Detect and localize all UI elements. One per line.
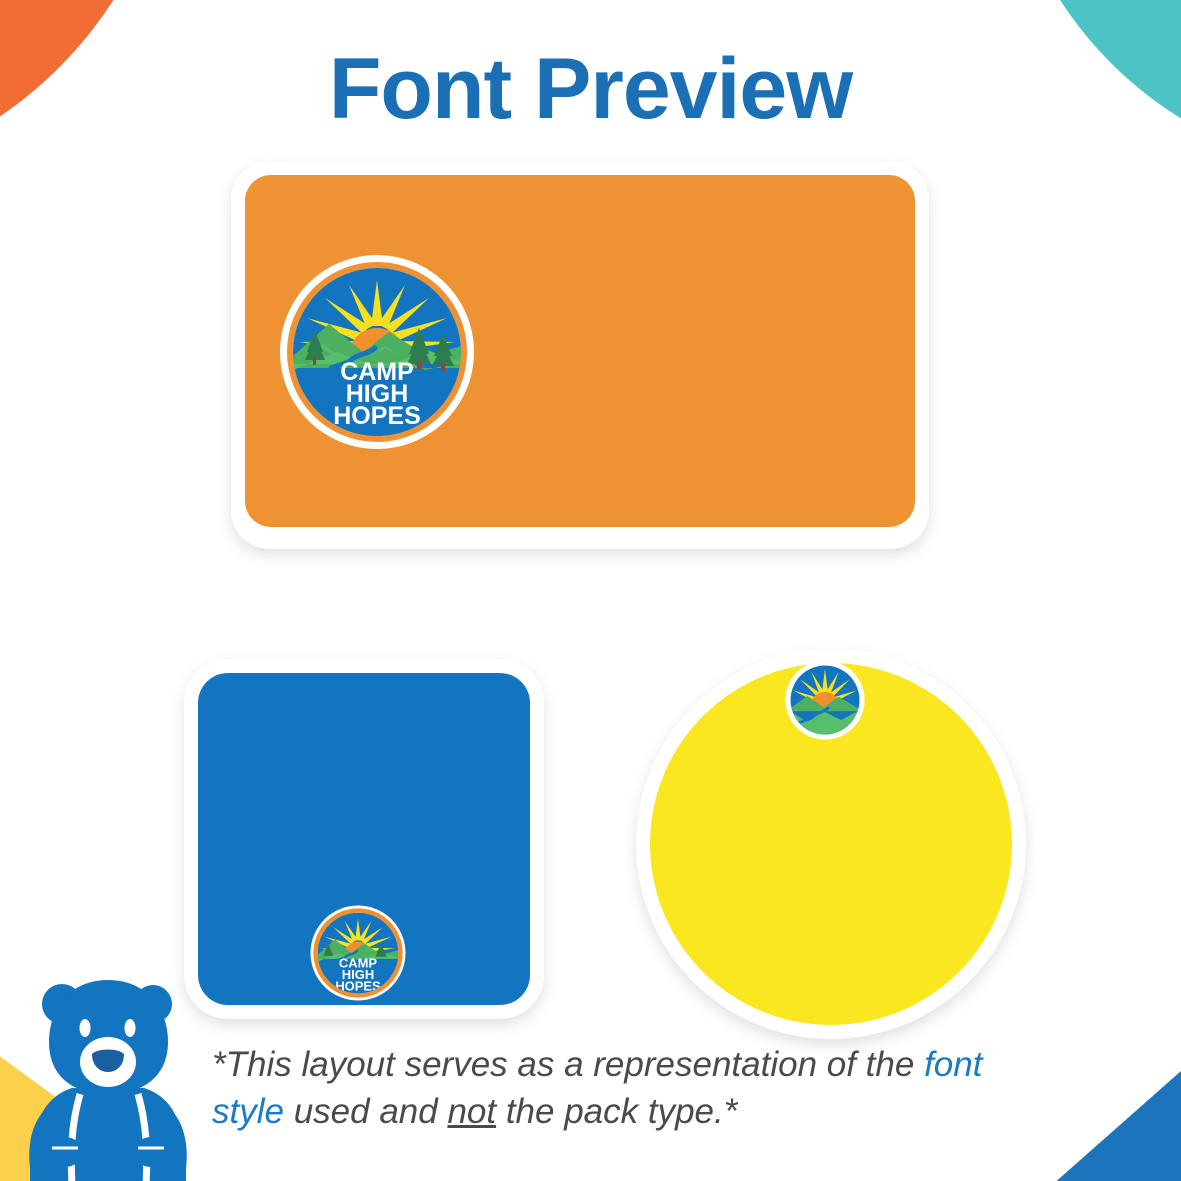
footnote-part-3: the pack type.* bbox=[496, 1092, 737, 1131]
camp-scene-badge-icon bbox=[785, 660, 865, 740]
footnote-part-1: *This layout serves as a representation … bbox=[212, 1045, 924, 1084]
badge-line-3: HOPES bbox=[333, 402, 421, 430]
camp-high-hopes-badge-small-icon: CAMP HIGH HOPES bbox=[310, 905, 406, 1001]
footnote-underlined: not bbox=[447, 1092, 496, 1131]
page-title: Font Preview bbox=[0, 40, 1181, 139]
blue-bear-mascot-icon bbox=[20, 970, 210, 1181]
footnote-text: *This layout serves as a representation … bbox=[212, 1042, 1042, 1135]
footnote-part-2: used and bbox=[284, 1092, 447, 1131]
poster-canvas: Font Preview bbox=[0, 0, 1181, 1181]
camp-high-hopes-badge-icon: CAMP HIGH HOPES bbox=[277, 252, 477, 452]
